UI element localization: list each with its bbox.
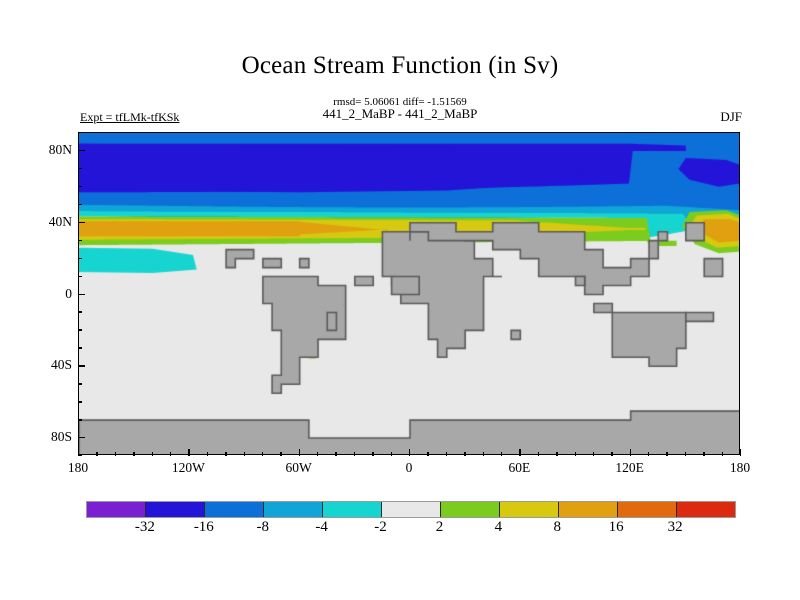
y-tick	[78, 311, 82, 312]
x-tick	[115, 452, 116, 456]
x-tick-label: 60W	[239, 460, 359, 476]
colorbar	[86, 501, 736, 518]
x-tick	[575, 452, 576, 456]
y-tick	[78, 276, 82, 277]
x-tick	[188, 449, 189, 456]
y-tick	[78, 419, 82, 420]
x-tick	[335, 452, 336, 456]
y-tick	[78, 240, 82, 241]
y-tick-label: 0	[0, 286, 72, 302]
x-tick	[317, 452, 318, 456]
y-tick	[78, 204, 82, 205]
colorbar-tick-label: 32	[645, 519, 705, 536]
x-tick-label: 120E	[570, 460, 690, 476]
y-tick-label: 80N	[0, 142, 72, 158]
x-tick	[648, 452, 649, 456]
x-tick	[78, 449, 79, 456]
x-tick-label: 180	[680, 460, 800, 476]
y-tick-label: 40S	[0, 357, 72, 373]
colorbar-tick-label: 2	[409, 519, 469, 536]
y-tick	[78, 347, 82, 348]
x-tick	[519, 449, 520, 456]
colorbar-tick-label: 8	[527, 519, 587, 536]
x-tick	[170, 452, 171, 456]
map-plot-area	[78, 132, 740, 455]
x-tick	[593, 452, 594, 456]
x-tick	[152, 452, 153, 456]
y-tick-label: 40N	[0, 214, 72, 230]
colorbar-tick-label: 4	[468, 519, 528, 536]
stream-function-field	[79, 133, 740, 455]
colorbar-tick-label: -4	[292, 519, 352, 536]
x-tick-label: 120W	[128, 460, 248, 476]
y-tick	[78, 437, 85, 438]
y-tick-label: 80S	[0, 429, 72, 445]
x-tick-label: 180	[18, 460, 138, 476]
x-tick	[630, 449, 631, 456]
page-title: Ocean Stream Function (in Sv)	[0, 52, 800, 80]
x-tick	[740, 449, 741, 456]
x-tick	[280, 452, 281, 456]
x-tick	[96, 452, 97, 456]
colorbar-labels: -32-16-8-4-22481632	[86, 519, 734, 541]
y-tick	[78, 401, 82, 402]
colorbar-segment	[205, 502, 264, 517]
x-tick	[299, 449, 300, 456]
y-tick	[78, 132, 82, 133]
y-tick	[78, 186, 82, 187]
x-tick	[666, 452, 667, 456]
plot-page: Ocean Stream Function (in Sv) Expt = tfL…	[0, 0, 800, 600]
x-tick	[556, 452, 557, 456]
x-tick	[262, 452, 263, 456]
colorbar-tick-label: -32	[115, 519, 175, 536]
x-tick	[409, 449, 410, 456]
y-tick	[78, 258, 82, 259]
x-tick	[538, 452, 539, 456]
colorbar-segment	[618, 502, 677, 517]
x-tick	[501, 452, 502, 456]
colorbar-tick-label: 16	[586, 519, 646, 536]
colorbar-tick-label: -2	[351, 519, 411, 536]
x-tick	[611, 452, 612, 456]
y-tick	[78, 168, 82, 169]
colorbar-segment	[87, 502, 146, 517]
y-tick	[78, 150, 85, 151]
x-tick	[372, 452, 373, 456]
colorbar-segment	[264, 502, 323, 517]
x-tick	[354, 452, 355, 456]
x-tick	[703, 452, 704, 456]
x-tick-label: 0	[349, 460, 469, 476]
colorbar-segment	[323, 502, 382, 517]
x-tick	[446, 452, 447, 456]
y-tick	[78, 329, 82, 330]
y-tick	[78, 222, 85, 223]
x-tick-label: 60E	[459, 460, 579, 476]
colorbar-segment	[382, 502, 441, 517]
x-tick	[464, 452, 465, 456]
x-tick	[244, 452, 245, 456]
case-label: 441_2_MaBP - 441_2_MaBP	[0, 106, 800, 122]
y-tick	[78, 383, 82, 384]
colorbar-segment	[677, 502, 735, 517]
y-tick	[78, 365, 85, 366]
x-tick	[133, 452, 134, 456]
x-tick	[207, 452, 208, 456]
colorbar-segment	[559, 502, 618, 517]
colorbar-tick-label: -8	[233, 519, 293, 536]
x-tick	[427, 452, 428, 456]
x-tick	[685, 452, 686, 456]
season-label: DJF	[720, 109, 742, 125]
x-tick	[225, 452, 226, 456]
x-tick	[483, 452, 484, 456]
x-tick	[722, 452, 723, 456]
colorbar-segment	[146, 502, 205, 517]
colorbar-segment	[500, 502, 559, 517]
x-tick	[391, 452, 392, 456]
colorbar-segment	[441, 502, 500, 517]
colorbar-tick-label: -16	[174, 519, 234, 536]
y-tick	[78, 294, 85, 295]
